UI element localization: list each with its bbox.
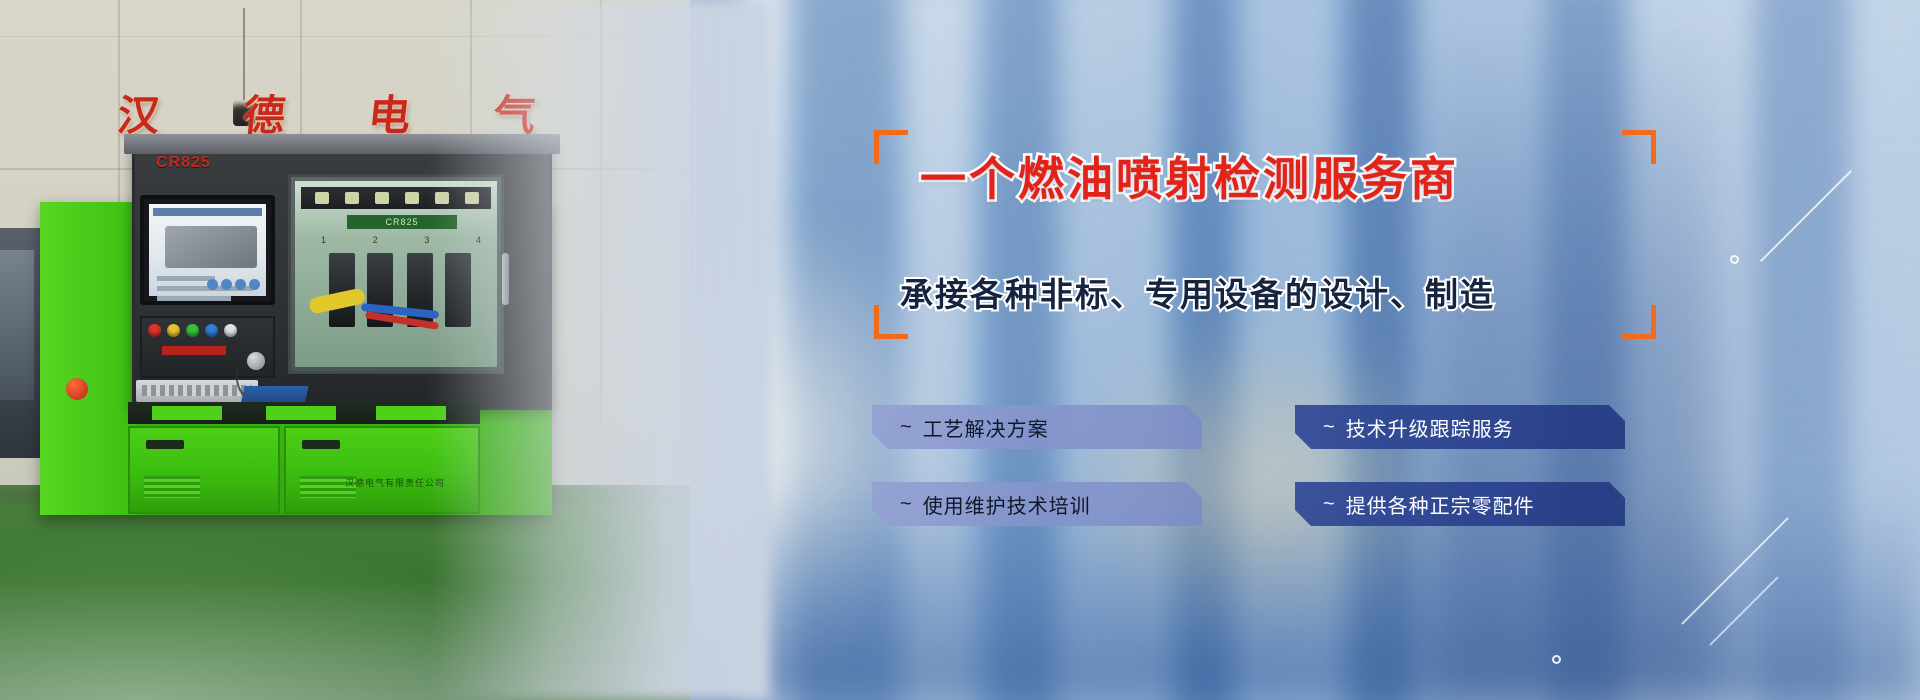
bench-top-rail — [124, 134, 560, 154]
wall-seam — [600, 0, 602, 420]
circle-decoration-icon — [1730, 255, 1739, 264]
indicator-light-yellow — [167, 324, 180, 337]
screen-button-icon — [221, 279, 232, 290]
tag-tilde-icon: ~ — [900, 416, 913, 439]
rail-lamp-icon — [315, 192, 329, 204]
bench-glass-window: CR825 1 2 3 4 — [288, 174, 504, 374]
feature-tag-maintenance-training[interactable]: ~ 使用维护技术培训 — [872, 482, 1202, 526]
rail-lamp-icon — [435, 192, 449, 204]
test-bench-machine: CR825 — [40, 140, 552, 515]
injector-body — [445, 253, 471, 327]
screen-button-icon — [207, 279, 218, 290]
screen-text-line — [157, 296, 231, 301]
band-green-segment — [376, 406, 446, 420]
bench-monitor — [140, 195, 275, 305]
control-red-bar — [162, 346, 226, 355]
feature-tag-label: 提供各种正宗零配件 — [1346, 490, 1535, 519]
banner-subheadline: 承接各种非标、专用设备的设计、制造 — [900, 268, 1495, 316]
tag-tilde-icon: ~ — [1323, 493, 1336, 516]
injector-number: 3 — [424, 235, 429, 253]
door-handle — [502, 253, 509, 305]
screen-title-bar — [153, 208, 262, 216]
feature-tag-upgrade-service[interactable]: ~ 技术升级跟踪服务 — [1295, 405, 1625, 449]
keyboard-keys — [142, 385, 252, 396]
emergency-stop-button — [66, 378, 88, 400]
drawer-handle — [302, 440, 340, 449]
bench-drawer — [284, 426, 480, 514]
machine-footer-text: 汉德电气有限责任公司 — [300, 476, 490, 490]
screen-buttons — [207, 279, 260, 290]
test-chamber: CR825 1 2 3 4 — [295, 181, 497, 367]
indicator-light-white — [224, 324, 237, 337]
monitor-screen — [149, 204, 266, 296]
wall-seam — [0, 36, 690, 37]
drawer-vents — [144, 476, 200, 498]
bench-mid-band — [128, 402, 480, 424]
injector-number: 4 — [476, 235, 481, 253]
floor-sheen — [0, 485, 690, 700]
indicator-light-blue — [205, 324, 218, 337]
machine-model-label: CR825 — [156, 154, 211, 172]
screen-button-icon — [249, 279, 260, 290]
drawer-handle — [146, 440, 184, 449]
screen-button-icon — [235, 279, 246, 290]
indicator-lights — [148, 324, 237, 337]
feature-tag-label: 使用维护技术培训 — [923, 490, 1091, 519]
chamber-top-rail — [301, 187, 491, 209]
corner-bracket-top-right-icon — [1622, 130, 1656, 164]
indicator-light-red — [148, 324, 161, 337]
feature-tag-label: 工艺解决方案 — [923, 413, 1049, 442]
rail-lamp-icon — [345, 192, 359, 204]
injector-number: 1 — [321, 235, 326, 253]
tag-tilde-icon: ~ — [900, 493, 913, 516]
rail-lamp-icon — [405, 192, 419, 204]
promo-banner: 汉 德 电 气 CR825 — [0, 0, 1920, 700]
tag-tilde-icon: ~ — [1323, 416, 1336, 439]
feature-tag-process-solution[interactable]: ~ 工艺解决方案 — [872, 405, 1202, 449]
banner-headline: 一个燃油喷射检测服务商 — [920, 143, 1459, 209]
rail-lamp-icon — [375, 192, 389, 204]
bench-left-panel — [40, 202, 138, 515]
injector-number-row: 1 2 3 4 — [321, 235, 481, 253]
feature-tag-list: ~ 工艺解决方案 ~ 技术升级跟踪服务 ~ 使用维护技术培训 ~ 提供各种正宗零… — [872, 405, 1625, 526]
product-photo: 汉 德 电 气 CR825 — [0, 0, 690, 700]
indicator-light-green — [186, 324, 199, 337]
screen-image — [165, 226, 257, 268]
background-equipment — [0, 250, 34, 400]
corner-bracket-top-left-icon — [874, 130, 908, 164]
rail-lamp-icon — [465, 192, 479, 204]
feature-tag-label: 技术升级跟踪服务 — [1346, 413, 1514, 442]
band-green-segment — [266, 406, 336, 420]
injector-number: 2 — [373, 235, 378, 253]
chamber-model-label: CR825 — [347, 215, 457, 229]
corner-bracket-bottom-right-icon — [1622, 305, 1656, 339]
bench-drawer — [128, 426, 280, 514]
band-green-segment — [152, 406, 222, 420]
circle-decoration-icon — [1552, 655, 1561, 664]
feature-tag-genuine-parts[interactable]: ~ 提供各种正宗零配件 — [1295, 482, 1625, 526]
